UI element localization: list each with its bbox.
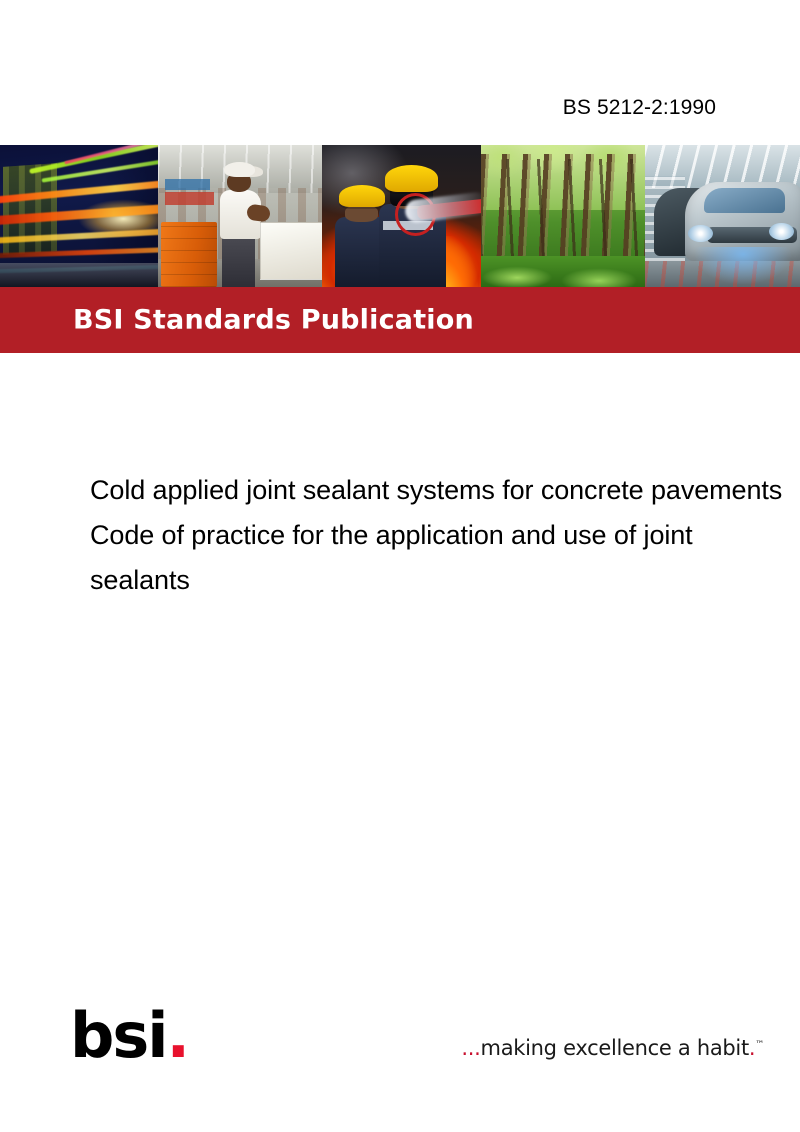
firefighter-front-helmet (385, 165, 438, 192)
photo-band (0, 145, 800, 287)
car-headlamp-right (769, 223, 794, 240)
traffic-road (0, 263, 158, 287)
photo-warehouse-worker (158, 145, 322, 287)
document-cover-page: BS 5212-2:1990 (0, 0, 800, 1132)
photo-forest (481, 145, 645, 287)
firefighter-rear-face (345, 205, 378, 221)
bsi-logo-letters: bsi (70, 999, 167, 1072)
bsi-logo-wordmark: bsi. (70, 999, 188, 1072)
warehouse-shelf-red (165, 192, 214, 205)
bsi-logo-dot: . (167, 999, 189, 1072)
document-title: Cold applied joint sealant systems for c… (90, 468, 790, 603)
standard-number: BS 5212-2:1990 (0, 96, 716, 120)
tagline-text: making excellence a habit (481, 1036, 749, 1060)
photo-automotive-assembly (645, 145, 800, 287)
photo-firefighters (322, 145, 481, 287)
bsi-tagline: ...making excellence a habit.™ (461, 1036, 764, 1060)
light-trail-green-2 (42, 157, 158, 182)
worker-trousers (222, 237, 254, 287)
trademark-icon: ™ (755, 1040, 764, 1050)
warehouse-package (260, 222, 322, 281)
car-windshield (704, 188, 785, 214)
warehouse-shelf-blue (165, 179, 211, 190)
worker-cap (224, 162, 254, 177)
car-headlamp-glow (695, 247, 791, 284)
car-headlamp-left (688, 225, 713, 242)
tagline-ellipsis: ... (461, 1036, 480, 1060)
publication-banner-label: BSI Standards Publication (73, 305, 474, 336)
photo-traffic-light-trails (0, 145, 158, 287)
forest-undergrowth (481, 256, 645, 287)
publication-banner: BSI Standards Publication (0, 287, 800, 353)
firefighter-rear-helmet (339, 185, 385, 207)
bsi-logo: bsi. (70, 1000, 190, 1072)
warehouse-crate (161, 222, 217, 287)
